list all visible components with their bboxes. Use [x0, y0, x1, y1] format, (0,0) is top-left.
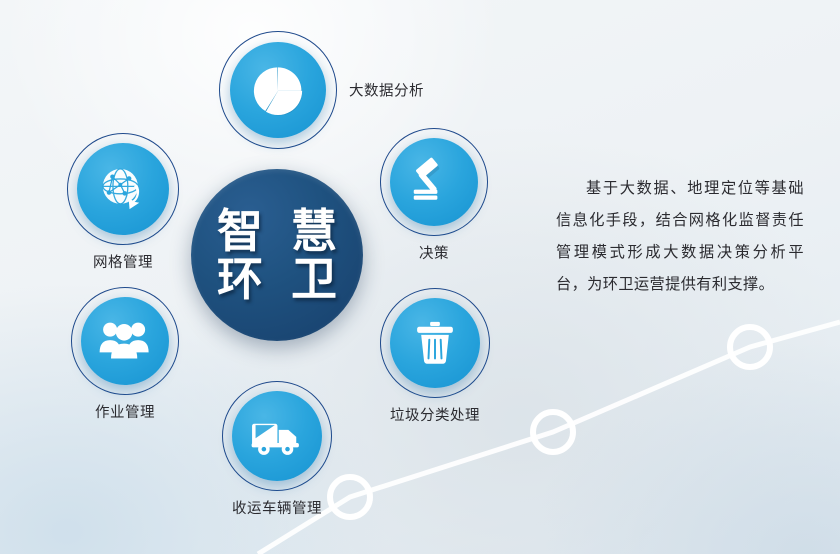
node-disc: [232, 391, 322, 481]
hub-title-line-2: 环 卫: [211, 255, 343, 303]
node-disc: [230, 42, 326, 138]
decoration-polyline: [258, 322, 840, 554]
node-disc: [81, 297, 169, 385]
node-label: 大数据分析: [349, 80, 424, 101]
pie-chart-icon: [250, 62, 306, 118]
decoration-node-1: [330, 477, 370, 517]
node-vehicle-management[interactable]: 收运车辆管理: [222, 381, 332, 491]
trash-bin-icon: [409, 317, 461, 369]
central-hub[interactable]: 智 慧 环 卫: [191, 169, 363, 341]
node-disc: [390, 138, 478, 226]
node-grid-management[interactable]: 网格管理: [67, 133, 179, 245]
gavel-icon: [407, 155, 461, 209]
garbage-truck-icon: [249, 408, 305, 464]
node-label: 作业管理: [95, 401, 155, 422]
decoration-node-2: [533, 412, 573, 452]
node-operation-management[interactable]: 作业管理: [71, 287, 179, 395]
node-waste-sorting[interactable]: 垃圾分类处理: [380, 288, 490, 398]
node-decision[interactable]: 决策: [380, 128, 488, 236]
hub-title-line-1: 智 慧: [211, 207, 343, 255]
node-label: 网格管理: [93, 251, 153, 272]
node-label: 垃圾分类处理: [390, 404, 480, 425]
node-label: 决策: [419, 242, 449, 263]
decoration-node-3: [730, 327, 770, 367]
people-group-icon: [97, 313, 153, 369]
node-label: 收运车辆管理: [232, 497, 322, 518]
node-disc: [77, 143, 169, 235]
globe-network-icon: [95, 161, 151, 217]
node-disc: [390, 298, 480, 388]
description-paragraph: 基于大数据、地理定位等基础信息化手段，结合网格化监督责任管理模式形成大数据决策分…: [556, 172, 804, 300]
node-big-data-analysis[interactable]: 大数据分析: [219, 31, 337, 149]
infographic-canvas: 智 慧 环 卫 大数据分析: [0, 0, 840, 554]
